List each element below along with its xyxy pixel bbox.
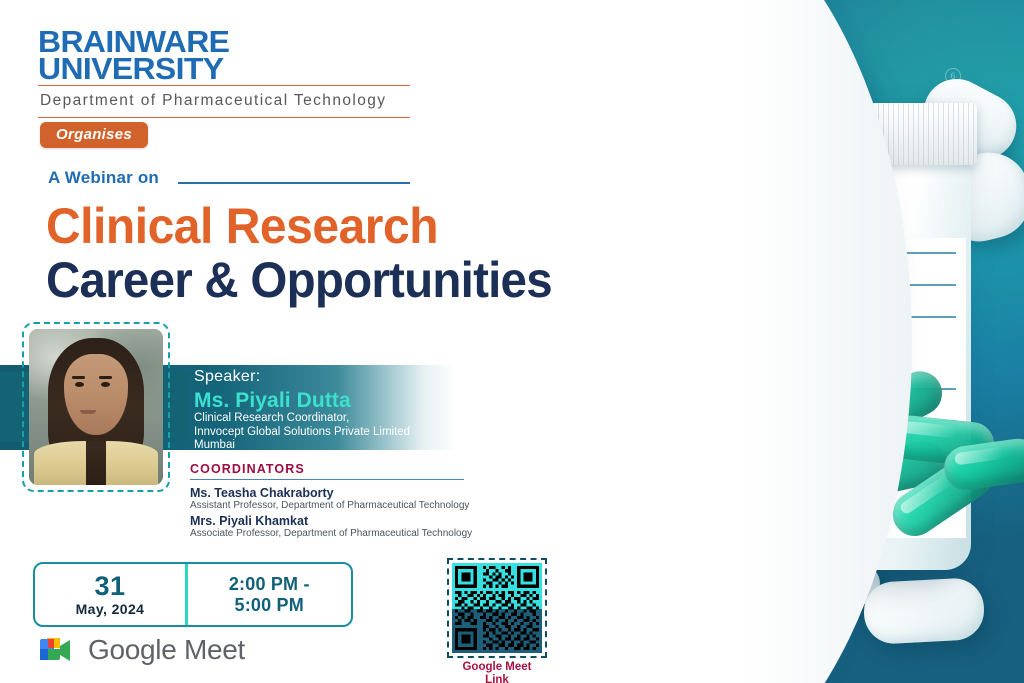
qr-caption: Google Meet Link [447, 661, 547, 683]
event-month-year: May, 2024 [76, 601, 145, 617]
qr-code-icon[interactable] [452, 563, 542, 653]
department-name: Department of Pharmaceutical Technology [40, 92, 386, 110]
date-time-box: 31 May, 2024 2:00 PM - 5:00 PM [33, 562, 353, 627]
time-section: 2:00 PM - 5:00 PM [188, 564, 352, 625]
divider-orange-top [38, 85, 410, 86]
speaker-name: Ms. Piyali Dutta [194, 389, 351, 413]
date-section: 31 May, 2024 [35, 564, 185, 625]
organises-badge: Organises [40, 122, 148, 148]
google-meet-wordmark: Google Meet [88, 634, 245, 666]
logo-line-2: UNIVERSITY [38, 55, 229, 82]
qr-caption-line-2: Link [447, 674, 547, 683]
divider-blue [178, 182, 410, 184]
speaker-affiliation: Clinical Research Coordinator, Innvocept… [194, 412, 410, 453]
coordinator-designation: Assistant Professor, Department of Pharm… [190, 500, 469, 511]
coordinators-heading: COORDINATORS [190, 462, 305, 476]
event-time-line-1: 2:00 PM - [229, 574, 310, 595]
speaker-label: Speaker: [194, 368, 260, 386]
event-day: 31 [94, 573, 125, 600]
qr-code-frame[interactable] [447, 558, 547, 658]
webinar-poster: 6 6 [0, 0, 1024, 683]
university-logo: BRAINWARE UNIVERSITY [38, 28, 224, 82]
speaker-avatar [29, 329, 163, 485]
webinar-title-line-1: Clinical Research [46, 198, 438, 254]
qr-caption-line-1: Google Meet [447, 661, 547, 674]
speaker-role-line-1: Clinical Research Coordinator, [194, 412, 410, 426]
speaker-photo-frame [22, 322, 170, 492]
divider-orange-bottom [38, 117, 410, 118]
coordinators-divider [190, 479, 464, 480]
webinar-title-line-2: Career & Opportunities [46, 252, 552, 308]
google-meet-branding: Google Meet [36, 634, 245, 666]
coordinator-name: Ms. Teasha Chakraborty [190, 486, 334, 500]
speaker-role-line-2: Innvocept Global Solutions Private Limit… [194, 426, 410, 440]
event-time-line-2: 5:00 PM [235, 595, 304, 616]
coordinator-name: Mrs. Piyali Khamkat [190, 514, 308, 528]
qr-code-block[interactable]: Google Meet Link [447, 558, 547, 683]
coordinator-designation: Associate Professor, Department of Pharm… [190, 528, 472, 539]
webinar-label: A Webinar on [48, 168, 159, 188]
google-meet-icon [36, 635, 78, 666]
speaker-role-line-3: Mumbai [194, 439, 410, 453]
